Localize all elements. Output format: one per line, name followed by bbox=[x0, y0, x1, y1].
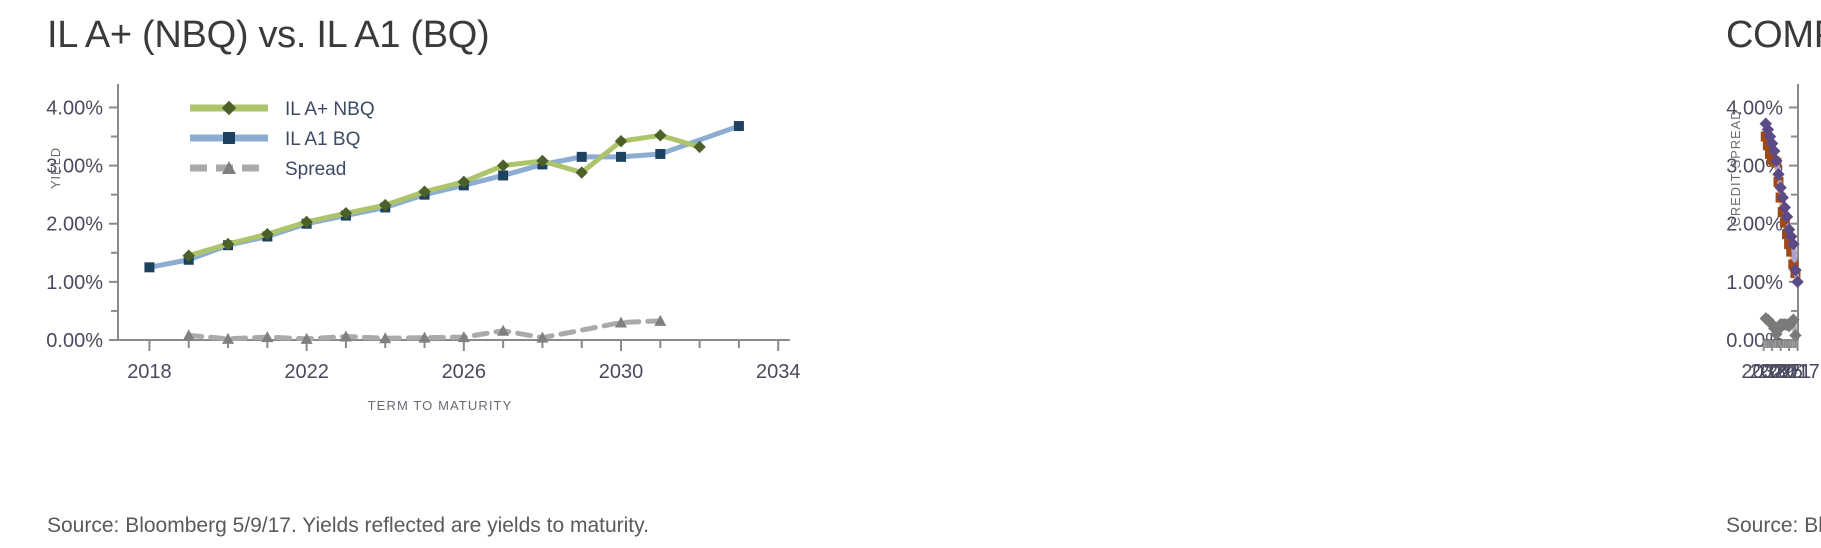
chart-svg-right: 0.00%1.00%2.00%3.00%4.00%201720212025202… bbox=[910, 70, 1821, 450]
y-axis-tick-label: 1.00% bbox=[46, 272, 103, 294]
x-axis-title: TERM TO MATURITY bbox=[368, 398, 513, 413]
legend-label[interactable]: IL A+ NBQ bbox=[285, 99, 375, 120]
x-axis-tick-label: 2022 bbox=[284, 361, 329, 383]
chart-svg-left: 0.00%1.00%2.00%3.00%4.00%201820222026203… bbox=[0, 70, 910, 450]
plot-area-left: 0.00%1.00%2.00%3.00%4.00%201820222026203… bbox=[0, 70, 910, 450]
chart-legend: IL A+ NBQIL A1 BQSpread bbox=[190, 99, 375, 180]
y-axis-tick-label: 1.00% bbox=[1726, 272, 1783, 294]
data-point-marker bbox=[222, 101, 236, 115]
charts-page: IL A+ (NBQ) vs. IL A1 (BQ) 0.00%1.00%2.0… bbox=[0, 0, 1821, 548]
source-note-right: Source: Bloomberg 5/9/17. Yields reflect… bbox=[1726, 514, 1821, 538]
chart-panel-left: IL A+ (NBQ) vs. IL A1 (BQ) 0.00%1.00%2.0… bbox=[0, 0, 910, 548]
x-axis-tick-label: 2030 bbox=[599, 361, 644, 383]
data-point-marker bbox=[734, 121, 744, 131]
chart-panel-right: COMP (Aa2 BQ) vs. NEG (AA BQ) 0.00%1.00%… bbox=[910, 0, 1821, 548]
data-point-marker bbox=[655, 149, 665, 159]
data-point-marker bbox=[498, 170, 508, 180]
source-note-left: Source: Bloomberg 5/9/17. Yields reflect… bbox=[47, 514, 649, 538]
series-il-a-nbq bbox=[183, 129, 706, 262]
y-axis-tick-label: 4.00% bbox=[46, 97, 103, 119]
data-point-marker bbox=[144, 262, 154, 272]
y-axis-title: YIELD bbox=[48, 147, 63, 189]
data-point-marker bbox=[616, 152, 626, 162]
page-title-left: IL A+ (NBQ) vs. IL A1 (BQ) bbox=[47, 14, 489, 57]
y-axis-tick-label: 2.00% bbox=[46, 214, 103, 236]
x-axis-tick-label: 2034 bbox=[756, 361, 801, 383]
x-axis-tick-label: 2018 bbox=[127, 361, 172, 383]
plot-area-right: 0.00%1.00%2.00%3.00%4.00%201720212025202… bbox=[910, 70, 1821, 450]
data-point-marker bbox=[577, 152, 587, 162]
legend-label[interactable]: Spread bbox=[285, 159, 346, 180]
data-point-marker bbox=[223, 132, 235, 144]
x-axis-tick-label: 2026 bbox=[442, 361, 487, 383]
data-point-marker bbox=[654, 129, 666, 141]
series-line bbox=[149, 126, 738, 267]
legend-label[interactable]: IL A1 BQ bbox=[285, 129, 360, 150]
y-axis-title: CREDIT SPREAD bbox=[1728, 110, 1743, 227]
y-axis-tick-label: 0.00% bbox=[46, 330, 103, 352]
page-title-right: COMP (Aa2 BQ) vs. NEG (AA BQ) bbox=[1726, 14, 1821, 57]
x-axis-tick-label: 2033 bbox=[1741, 361, 1786, 383]
